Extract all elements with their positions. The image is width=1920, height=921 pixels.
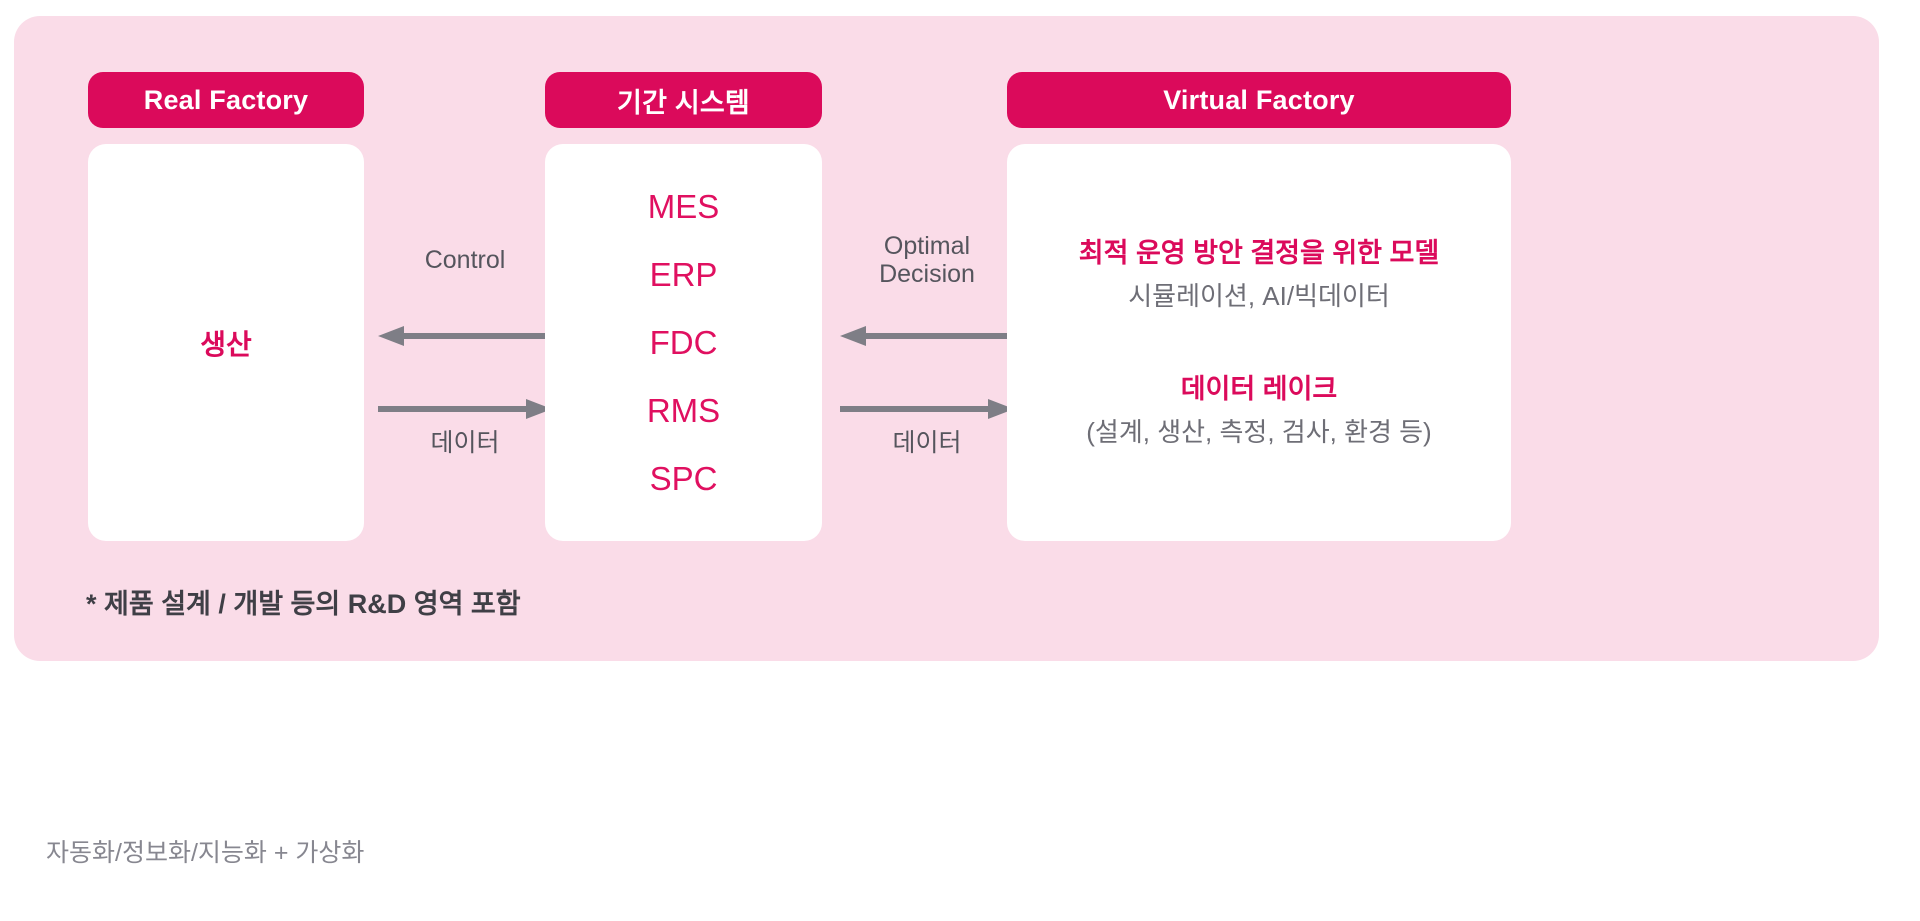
arrow-control-left-icon [378, 323, 552, 349]
pill-real-factory: Real Factory [88, 72, 364, 128]
diagram-caption: 자동화/정보화/지능화 + 가상화 [46, 833, 364, 869]
connector-optimal-decision-line2: Decision [832, 260, 1022, 288]
box-core-system: MES ERP FDC RMS SPC [545, 144, 822, 541]
core-system-list: MES ERP FDC RMS SPC [545, 172, 822, 513]
panel-footnote: * 제품 설계 / 개발 등의 R&D 영역 포함 [86, 582, 521, 621]
smart-factory-panel: Real Factory 생산 Control 데이터 기간 시스템 MES [14, 16, 1879, 661]
virtual-factory-datalake-title: 데이터 레이크 [1007, 372, 1511, 407]
pill-virtual-factory: Virtual Factory [1007, 72, 1511, 128]
box-real-factory: 생산 [88, 144, 364, 541]
list-item: RMS [647, 394, 720, 427]
list-item: FDC [650, 326, 718, 359]
virtual-factory-datalake-subtitle: (설계, 생산, 측정, 검사, 환경 등) [1007, 416, 1511, 449]
real-factory-body-label: 생산 [88, 323, 364, 363]
pill-real-factory-label: Real Factory [144, 85, 308, 116]
connector-control-label: Control [370, 246, 560, 274]
virtual-factory-block-datalake: 데이터 레이크 (설계, 생산, 측정, 검사, 환경 등) [1007, 372, 1511, 450]
pill-virtual-factory-label: Virtual Factory [1163, 85, 1355, 116]
list-item: MES [648, 190, 720, 223]
virtual-factory-model-title: 최적 운영 방안 결정을 위한 모델 [1007, 236, 1511, 271]
diagram-root: Real Factory 생산 Control 데이터 기간 시스템 MES [0, 0, 1920, 921]
virtual-factory-content: 최적 운영 방안 결정을 위한 모델 시뮬레이션, AI/빅데이터 데이터 레이… [1007, 144, 1511, 541]
arrow-optimal-decision-left-icon [840, 323, 1014, 349]
arrow-data-right-icon [378, 396, 552, 422]
pill-core-system-label: 기간 시스템 [617, 81, 750, 120]
connector-optimal-decision-line1: Optimal [832, 232, 1022, 260]
box-virtual-factory: 최적 운영 방안 결정을 위한 모델 시뮬레이션, AI/빅데이터 데이터 레이… [1007, 144, 1511, 541]
connector-optimal-decision-label: Optimal Decision [832, 232, 1022, 288]
virtual-factory-model-subtitle: 시뮬레이션, AI/빅데이터 [1007, 280, 1511, 313]
list-item: ERP [650, 258, 718, 291]
virtual-factory-block-model: 최적 운영 방안 결정을 위한 모델 시뮬레이션, AI/빅데이터 [1007, 236, 1511, 314]
pill-core-system: 기간 시스템 [545, 72, 822, 128]
arrow-data-right-icon-2 [840, 396, 1014, 422]
connector-data-label-right: 데이터 [832, 429, 1022, 457]
list-item: SPC [650, 462, 718, 495]
connector-data-label-left: 데이터 [370, 429, 560, 457]
